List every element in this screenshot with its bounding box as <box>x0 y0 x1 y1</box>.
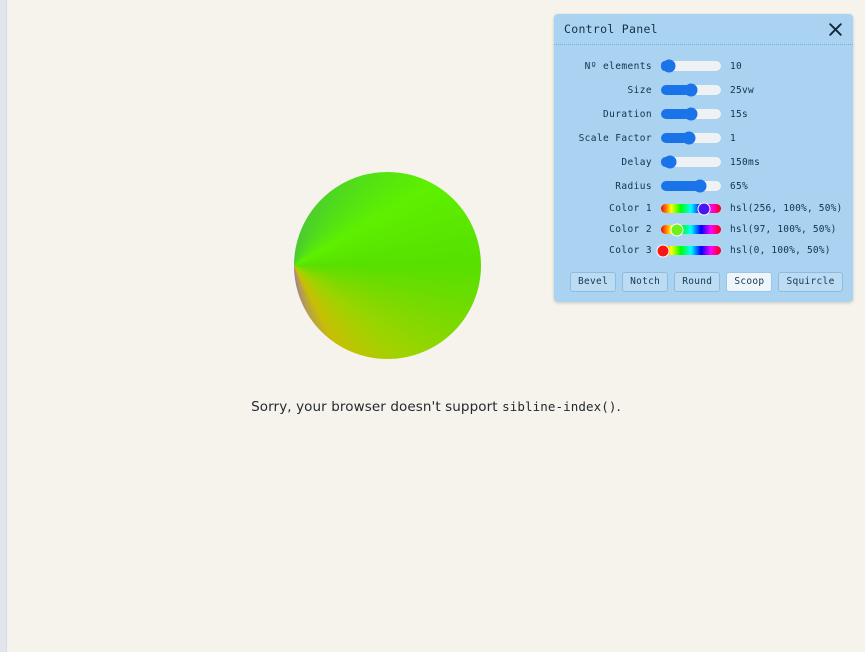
slider-thumb[interactable] <box>664 156 677 169</box>
slider-thumb[interactable] <box>694 180 707 193</box>
slider-label: Nº elements <box>564 61 661 72</box>
slider-track[interactable] <box>661 157 721 167</box>
slider-row: Nº elements10 <box>564 54 843 78</box>
hue-slider-thumb[interactable] <box>671 223 684 236</box>
hue-slider-thumb[interactable] <box>656 244 669 257</box>
color-value: hsl(0, 100%, 50%) <box>721 245 831 256</box>
hue-slider-track[interactable] <box>661 246 721 255</box>
slider-thumb[interactable] <box>685 108 698 121</box>
control-panel-header: Control Panel <box>554 14 853 45</box>
control-panel: Control Panel Nº elements10Size25vwDurat… <box>554 14 853 302</box>
slider-track[interactable] <box>661 133 721 143</box>
hue-slider-track[interactable] <box>661 225 721 234</box>
slider-row: Radius65% <box>564 174 843 198</box>
demo-stage: Sorry, your browser doesn't support sibl… <box>7 0 865 652</box>
color-row: Color 2hsl(97, 100%, 50%) <box>564 219 843 240</box>
slider-value: 65% <box>721 181 748 192</box>
color-row: Color 3hsl(0, 100%, 50%) <box>564 240 843 261</box>
slider-row: Scale Factor1 <box>564 126 843 150</box>
color-value: hsl(256, 100%, 50%) <box>721 203 842 214</box>
color-value: hsl(97, 100%, 50%) <box>721 224 837 235</box>
slider-row: Size25vw <box>564 78 843 102</box>
slider-row: Delay150ms <box>564 150 843 174</box>
slider-value: 10 <box>721 61 742 72</box>
slider-row: Duration15s <box>564 102 843 126</box>
slider-track[interactable] <box>661 181 721 191</box>
shape-button-scoop[interactable]: Scoop <box>726 272 772 292</box>
slider-label: Size <box>564 85 661 96</box>
fallback-message: Sorry, your browser doesn't support sibl… <box>7 399 865 415</box>
shape-button-squircle[interactable]: Squircle <box>778 272 842 292</box>
slider-value: 1 <box>721 133 736 144</box>
slider-thumb[interactable] <box>662 60 675 73</box>
fallback-message-code: sibline-index() <box>502 399 616 414</box>
fallback-message-suffix: . <box>616 399 620 415</box>
hue-slider-thumb[interactable] <box>697 202 710 215</box>
slider-thumb[interactable] <box>683 132 696 145</box>
control-panel-title: Control Panel <box>564 22 658 36</box>
slider-thumb[interactable] <box>685 84 698 97</box>
shape-button-bevel[interactable]: Bevel <box>570 272 616 292</box>
gradient-circle-shape <box>294 172 481 359</box>
slider-value: 15s <box>721 109 748 120</box>
shape-button-group: BevelNotchRoundScoopSquircle <box>564 272 843 292</box>
shape-button-round[interactable]: Round <box>674 272 720 292</box>
hue-slider-track[interactable] <box>661 204 721 213</box>
slider-label: Duration <box>564 109 661 120</box>
slider-value: 150ms <box>721 157 760 168</box>
slider-track[interactable] <box>661 85 721 95</box>
color-list: Color 1hsl(256, 100%, 50%)Color 2hsl(97,… <box>564 198 843 261</box>
close-icon[interactable] <box>825 19 845 39</box>
shape-button-notch[interactable]: Notch <box>622 272 668 292</box>
control-panel-body: Nº elements10Size25vwDuration15sScale Fa… <box>554 45 853 302</box>
slider-label: Delay <box>564 157 661 168</box>
slider-label: Radius <box>564 181 661 192</box>
color-label: Color 1 <box>564 203 661 214</box>
slider-label: Scale Factor <box>564 133 661 144</box>
color-row: Color 1hsl(256, 100%, 50%) <box>564 198 843 219</box>
color-label: Color 2 <box>564 224 661 235</box>
slider-value: 25vw <box>721 85 754 96</box>
color-label: Color 3 <box>564 245 661 256</box>
fallback-message-prefix: Sorry, your browser doesn't support <box>251 399 502 415</box>
slider-track[interactable] <box>661 109 721 119</box>
slider-track[interactable] <box>661 61 721 71</box>
slider-list: Nº elements10Size25vwDuration15sScale Fa… <box>564 54 843 198</box>
left-gutter-strip <box>0 0 7 652</box>
